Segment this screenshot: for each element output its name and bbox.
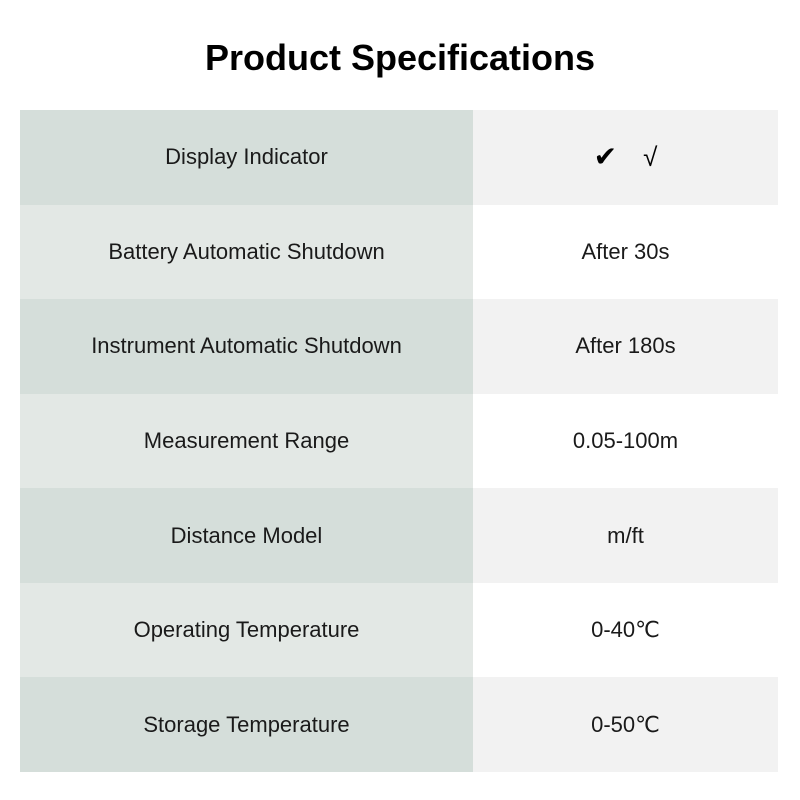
spec-label-measurement-range: Measurement Range — [20, 394, 473, 489]
spec-value-storage-temperature: 0-50℃ — [473, 677, 778, 772]
spec-value-battery-automatic-shutdown: After 30s — [473, 205, 778, 300]
spec-value-operating-temperature: 0-40℃ — [473, 583, 778, 678]
table-row: Distance Model m/ft — [20, 488, 778, 583]
check-bold-icon: ✔ — [594, 143, 617, 171]
spec-label-instrument-automatic-shutdown: Instrument Automatic Shutdown — [20, 299, 473, 394]
spec-label-battery-automatic-shutdown: Battery Automatic Shutdown — [20, 205, 473, 300]
check-thin-icon: √ — [643, 144, 657, 170]
spec-value-text: 0-50℃ — [591, 712, 660, 738]
table-row: Instrument Automatic Shutdown After 180s — [20, 299, 778, 394]
spec-value-display-indicator: ✔ √ — [473, 110, 778, 205]
spec-value-text: After 180s — [575, 333, 675, 359]
spec-label-distance-model: Distance Model — [20, 488, 473, 583]
table-row: Display Indicator ✔ √ — [20, 110, 778, 205]
spec-label-operating-temperature: Operating Temperature — [20, 583, 473, 678]
spec-label-storage-temperature: Storage Temperature — [20, 677, 473, 772]
spec-label-display-indicator: Display Indicator — [20, 110, 473, 205]
spec-value-text: m/ft — [607, 523, 644, 549]
table-row: Battery Automatic Shutdown After 30s — [20, 205, 778, 300]
spec-value-measurement-range: 0.05-100m — [473, 394, 778, 489]
spec-value-text: After 30s — [581, 239, 669, 265]
spec-value-distance-model: m/ft — [473, 488, 778, 583]
spec-value-instrument-automatic-shutdown: After 180s — [473, 299, 778, 394]
table-row: Operating Temperature 0-40℃ — [20, 583, 778, 678]
checkmark-group: ✔ √ — [594, 143, 658, 171]
table-row: Storage Temperature 0-50℃ — [20, 677, 778, 772]
page-title: Product Specifications — [0, 36, 800, 80]
spec-value-text: 0-40℃ — [591, 617, 660, 643]
spec-value-text: 0.05-100m — [573, 428, 678, 454]
table-row: Measurement Range 0.05-100m — [20, 394, 778, 489]
specifications-table: Display Indicator ✔ √ Battery Automatic … — [20, 110, 778, 772]
product-specifications-page: Product Specifications Display Indicator… — [0, 0, 800, 800]
